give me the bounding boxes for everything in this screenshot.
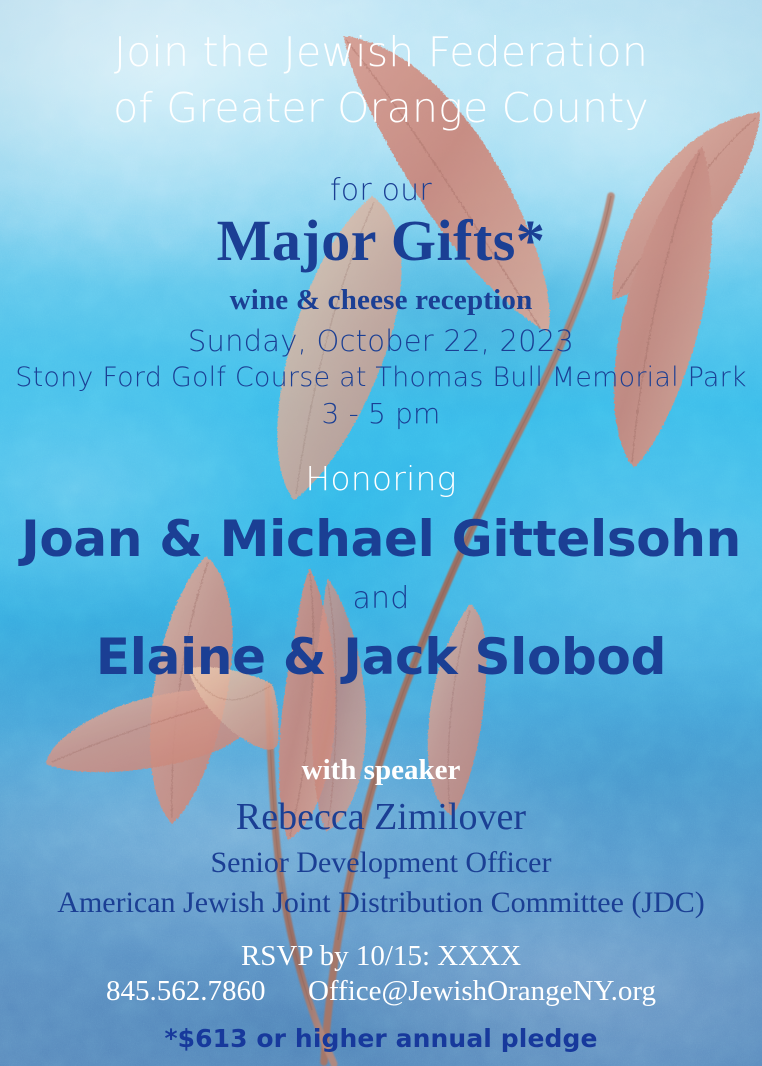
contact-line: 845.562.7860 Office@JewishOrangeNY.org (0, 972, 762, 1010)
event-name: Major Gifts* (0, 206, 762, 276)
speaker-label: with speaker (0, 751, 762, 789)
pledge-footnote: *$613 or higher annual pledge (0, 1022, 762, 1056)
invitation-poster: Join the Jewish Federation of Greater Or… (0, 0, 762, 1066)
headline-line-2: of Greater Orange County (0, 80, 762, 136)
for-our-label: for our (0, 172, 762, 210)
event-subtitle: wine & cheese reception (0, 281, 762, 319)
event-venue: Stony Ford Golf Course at Thomas Bull Me… (0, 360, 762, 396)
speaker-name: Rebecca Zimilover (0, 793, 762, 841)
rsvp-email[interactable]: Office@JewishOrangeNY.org (308, 975, 656, 1007)
event-date: Sunday, October 22, 2023 (0, 322, 762, 360)
invitation-content: Join the Jewish Federation of Greater Or… (0, 0, 762, 1066)
rsvp-line: RSVP by 10/15: XXXX (0, 937, 762, 975)
headline-line-1: Join the Jewish Federation (0, 24, 762, 80)
honoree-conjunction: and (0, 580, 762, 618)
event-time: 3 - 5 pm (0, 396, 762, 432)
honoring-label: Honoring (0, 458, 762, 500)
rsvp-phone[interactable]: 845.562.7860 (106, 975, 266, 1007)
speaker-title: Senior Development Officer (0, 843, 762, 883)
headline: Join the Jewish Federation of Greater Or… (0, 24, 762, 136)
honoree-second: Elaine & Jack Slobod (0, 626, 762, 688)
speaker-organization: American Jewish Joint Distribution Commi… (0, 883, 762, 923)
honoree-first: Joan & Michael Gittelsohn (0, 508, 762, 570)
